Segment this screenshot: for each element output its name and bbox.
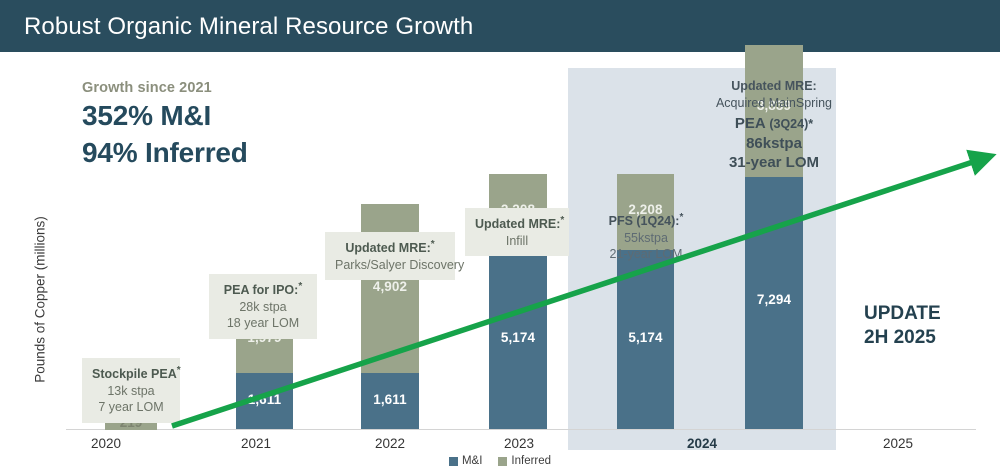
slide-header-bar: Robust Organic Mineral Resource Growth xyxy=(0,0,1000,52)
chart-legend: M&I Inferred xyxy=(0,455,1000,467)
legend-item-inferred[interactable]: Inferred xyxy=(498,455,551,467)
legend-label-mi: M&I xyxy=(462,455,482,467)
chart-plot-area: Pounds of Copper (millions) 2020 2021 20… xyxy=(0,52,1000,473)
trend-arrow-icon xyxy=(0,52,1000,473)
legend-swatch-inferred xyxy=(498,457,507,466)
slide: Robust Organic Mineral Resource Growth G… xyxy=(0,0,1000,473)
legend-swatch-mi xyxy=(449,457,458,466)
legend-item-mi[interactable]: M&I xyxy=(449,455,482,467)
legend-label-inferred: Inferred xyxy=(511,455,551,467)
page-title: Robust Organic Mineral Resource Growth xyxy=(24,13,473,41)
